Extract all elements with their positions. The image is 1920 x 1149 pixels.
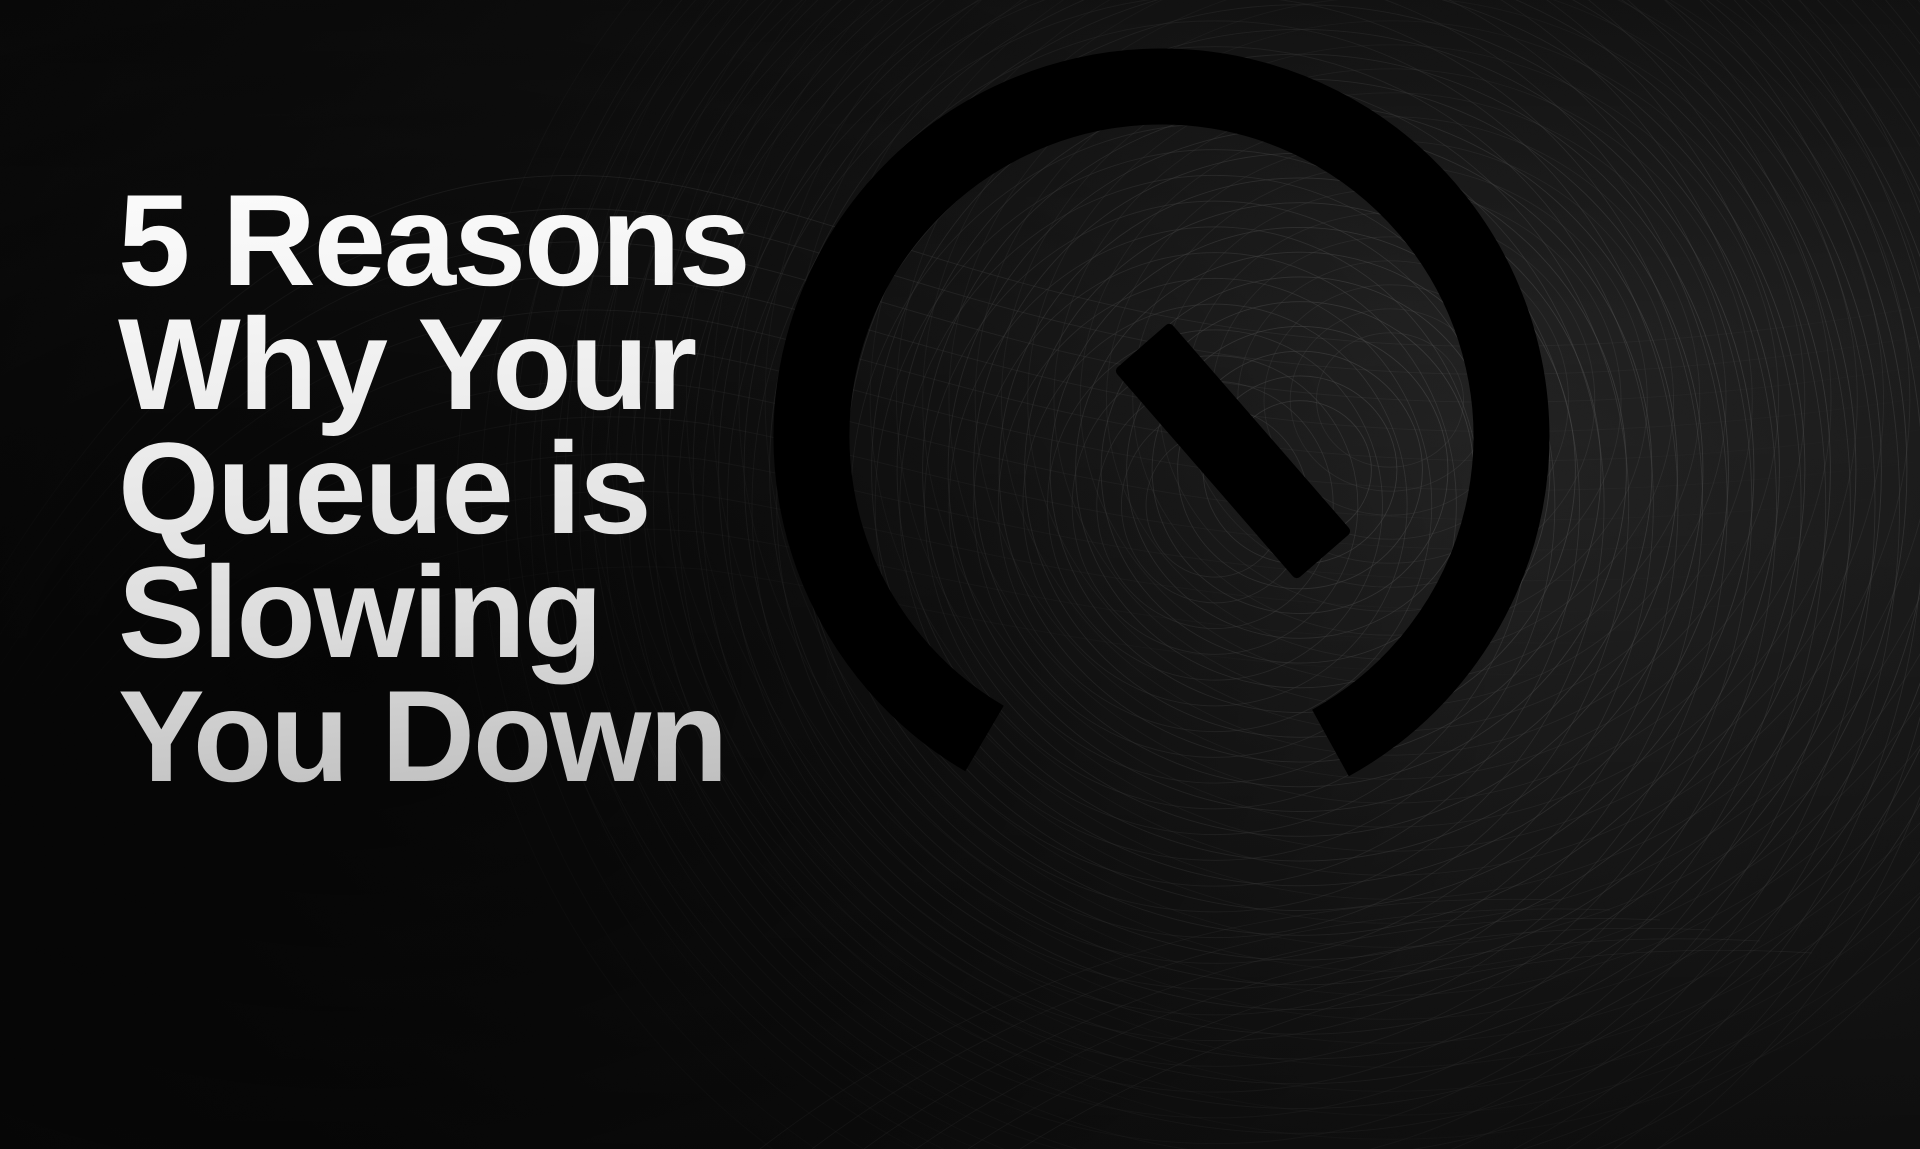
diagonal-bar xyxy=(1114,322,1352,580)
headline-line-1: 5 Reasons xyxy=(118,178,758,302)
hero-card: 5 Reasons Why Your Queue is Slowing You … xyxy=(0,0,1920,1149)
headline-line-4: Slowing xyxy=(118,550,758,674)
headline-line-5: You Down xyxy=(118,674,758,798)
headline-line-2: Why Your xyxy=(118,302,758,426)
queue-ring-logo-mark xyxy=(830,140,1640,780)
headline-line-3: Queue is xyxy=(118,426,758,550)
page-title: 5 Reasons Why Your Queue is Slowing You … xyxy=(118,178,758,798)
